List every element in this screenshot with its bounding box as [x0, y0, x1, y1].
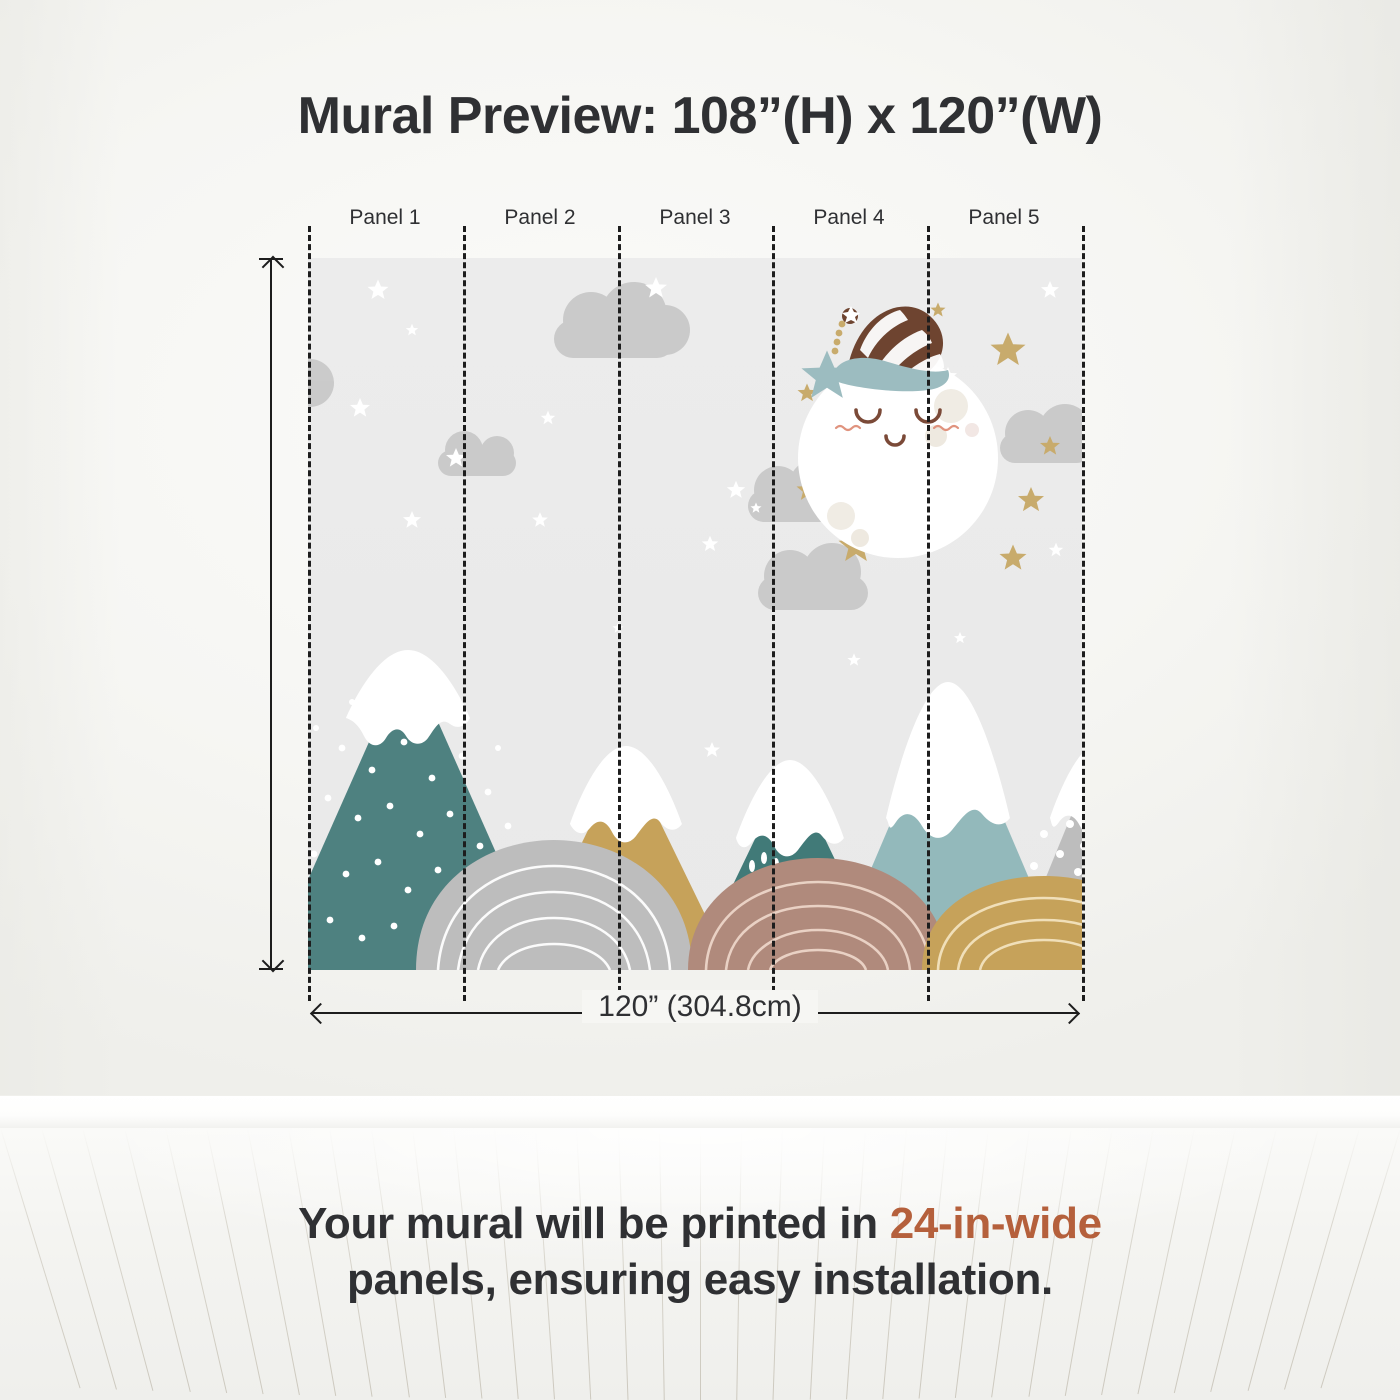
- panel-label-2: Panel 2: [504, 206, 575, 230]
- footer-line-1: Your mural will be printed in 24-in-wide: [0, 1196, 1400, 1252]
- height-tick-top: [259, 258, 283, 260]
- panel-label-1: Panel 1: [349, 206, 420, 230]
- width-dimension-text: 120” (304.8cm): [582, 990, 817, 1023]
- footer-accent-text: 24-in-wide: [890, 1199, 1102, 1248]
- bead-chain: [832, 321, 846, 355]
- footer-line-1-prefix: Your mural will be printed in: [298, 1199, 890, 1248]
- cloud-5: [1000, 404, 1082, 463]
- width-dimension-label: 120” (304.8cm): [0, 990, 1400, 1024]
- panel-label-3: Panel 3: [659, 206, 730, 230]
- panel-label-5: Panel 5: [968, 206, 1039, 230]
- footer-caption: Your mural will be printed in 24-in-wide…: [0, 1196, 1400, 1309]
- mural-illustration: [308, 258, 1082, 970]
- moon-character: [798, 306, 998, 558]
- cloud-3: [308, 359, 334, 407]
- wall-shadow-left: [0, 0, 120, 1095]
- panel-divider-4: [927, 226, 930, 1001]
- height-dimension-arrow: [270, 258, 272, 970]
- panel-divider-2: [618, 226, 621, 1001]
- mural-preview-area: Panel 1 Panel 2 Panel 3 Panel 4 Panel 5: [308, 258, 1082, 970]
- snow-cap: [346, 650, 470, 745]
- baseboard: [0, 1095, 1400, 1129]
- cloud-2: [438, 431, 516, 476]
- panel-divider-1: [463, 226, 466, 1001]
- cloud-1: [554, 282, 690, 358]
- wall-shadow-right: [1230, 0, 1400, 1095]
- panel-divider-0: [308, 226, 311, 1001]
- panel-divider-3: [772, 226, 775, 1001]
- panel-label-4: Panel 4: [813, 206, 884, 230]
- mural-artwork: [308, 258, 1082, 970]
- height-tick-bottom: [259, 968, 283, 970]
- page-title: Mural Preview: 108”(H) x 120”(W): [0, 86, 1400, 146]
- panel-divider-5: [1082, 226, 1085, 1001]
- footer-line-2: panels, ensuring easy installation.: [0, 1252, 1400, 1308]
